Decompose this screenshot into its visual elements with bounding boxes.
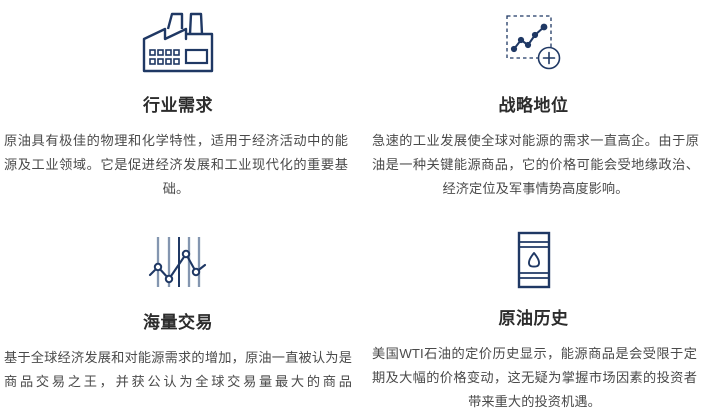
feature-card-strategic-position: 战略地位 急速的工业发展使全球对能源的需求一直高企。由于原油是一种关键能源商品，…: [356, 0, 711, 207]
card-title: 原油历史: [499, 309, 569, 329]
card-body: 美国WTI石油的定价历史显示，能源商品是会受限于定期及大幅的价格变动，这无疑为掌…: [358, 342, 709, 414]
feature-grid: 行业需求 原油具有极佳的物理和化学特性，适用于经济活动中的能源及工业领域。它是促…: [0, 0, 711, 414]
card-title: 海量交易: [143, 313, 213, 333]
feature-card-massive-trading: 海量交易 基于全球经济发展和对能源需求的增加，原油一直被认为是商品交易之王，并获…: [0, 207, 356, 414]
card-body: 基于全球经济发展和对能源需求的增加，原油一直被认为是商品交易之王，并获公认为全球…: [2, 346, 354, 394]
card-title: 行业需求: [143, 96, 213, 116]
line-chart-add-icon: [503, 6, 565, 80]
factory-icon: [141, 6, 215, 80]
oil-barrel-icon: [512, 229, 556, 291]
card-title: 战略地位: [499, 96, 569, 116]
card-body: 急速的工业发展使全球对能源的需求一直高企。由于原油是一种关键能源商品，它的价格可…: [358, 129, 709, 201]
feature-card-industry-demand: 行业需求 原油具有极佳的物理和化学特性，适用于经济活动中的能源及工业领域。它是促…: [0, 0, 356, 207]
feature-card-oil-history: 原油历史 美国WTI石油的定价历史显示，能源商品是会受限于定期及大幅的价格变动，…: [356, 207, 711, 414]
card-body: 原油具有极佳的物理和化学特性，适用于经济活动中的能源及工业领域。它是促进经济发展…: [2, 129, 354, 201]
volatility-chart-icon: [148, 229, 208, 295]
